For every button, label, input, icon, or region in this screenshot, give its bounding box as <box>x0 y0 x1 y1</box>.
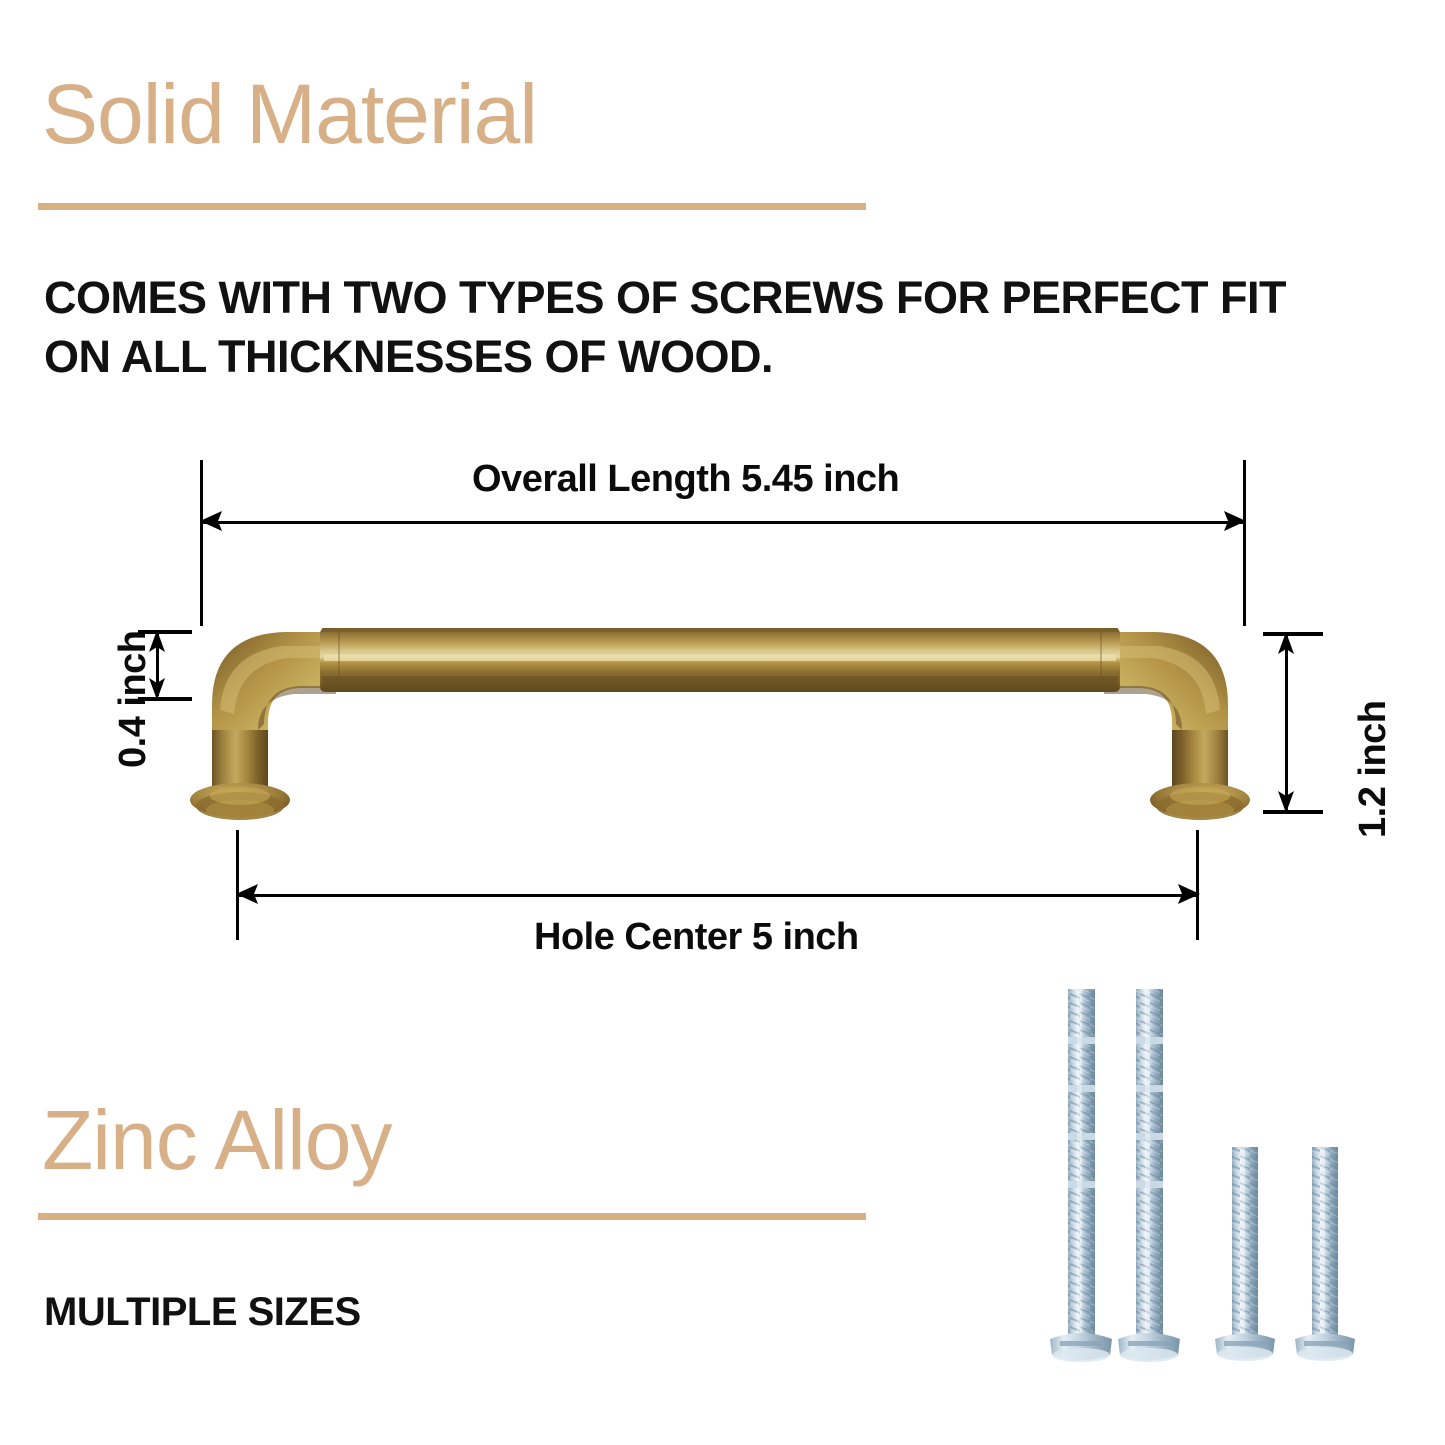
section-title-solid-material: Solid Material <box>42 72 537 156</box>
long-breakaway-screw-2 <box>1118 989 1180 1362</box>
infographic-page: Solid Material COMES WITH TWO TYPES OF S… <box>0 0 1445 1445</box>
long-breakaway-screw-1 <box>1050 989 1112 1362</box>
arrowhead-down-projection <box>1275 791 1299 815</box>
arrowhead-down-thickness <box>146 678 170 702</box>
dimension-line-projection <box>1285 636 1288 812</box>
section-divider-solid-material <box>38 203 866 210</box>
caption-multiple-sizes: MULTIPLE SIZES <box>44 1290 361 1335</box>
dimension-line-hole-center <box>239 894 1196 897</box>
caption-screws-description: COMES WITH TWO TYPES OF SCREWS FOR PERFE… <box>44 268 1344 387</box>
section-divider-zinc-alloy <box>38 1213 866 1220</box>
cabinet-pull-handle-image <box>190 610 1250 825</box>
dimension-label-hole-center: Hole Center 5 inch <box>534 916 859 959</box>
dimension-label-projection: 1.2 inch <box>1352 701 1395 839</box>
handle-center-bar <box>320 628 1120 692</box>
arrowhead-right-overall <box>1220 508 1250 538</box>
extension-line-overall-right <box>1243 460 1246 626</box>
extension-line-overall-left <box>200 460 203 626</box>
short-machine-screw-2 <box>1295 1147 1355 1361</box>
mounting-screws-image <box>1040 975 1385 1405</box>
handle-right-leg <box>1100 632 1250 820</box>
arrowhead-left-hole-center <box>232 881 262 911</box>
short-machine-screw-1 <box>1215 1147 1275 1361</box>
arrowhead-up-thickness <box>146 628 170 652</box>
dimension-label-overall-length: Overall Length 5.45 inch <box>472 458 899 501</box>
arrowhead-left-overall <box>196 508 226 538</box>
section-title-zinc-alloy: Zinc Alloy <box>42 1098 391 1182</box>
dimension-line-overall-length <box>203 521 1243 524</box>
arrowhead-right-hole-center <box>1174 881 1204 911</box>
arrowhead-up-projection <box>1275 630 1299 654</box>
handle-left-leg <box>190 632 340 820</box>
